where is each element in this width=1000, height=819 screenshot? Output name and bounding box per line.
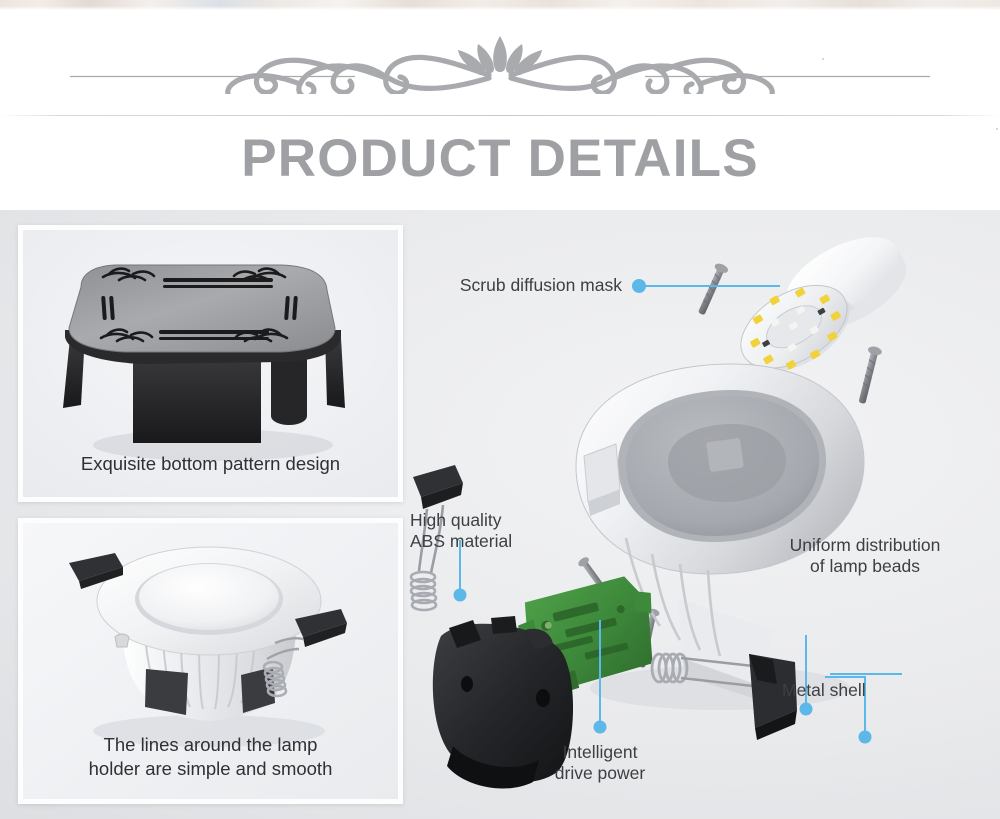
speck-artifact [822, 58, 824, 60]
product-details-page: PRODUCT DETAILS [0, 0, 1000, 819]
flourish-divider-icon [0, 28, 1000, 94]
callout-label-line-1: High quality [410, 510, 512, 531]
callout-uniform-distribution-of-lamp-beads: Uniform distribution of lamp beads [760, 535, 970, 577]
callout-label: Scrub diffusion mask [460, 275, 622, 295]
panel-caption: Exquisite bottom pattern design [23, 452, 398, 475]
horizontal-rule-icon [0, 115, 1000, 116]
panel-bottom-pattern: Exquisite bottom pattern design [18, 225, 403, 502]
page-header: PRODUCT DETAILS [0, 10, 1000, 210]
panel-caption-line-1: The lines around the lamp [23, 733, 398, 757]
callout-intelligent-drive-power: Intelligent drive power [505, 742, 695, 784]
callout-metal-shell: Metal shell [782, 680, 866, 701]
panel-caption-line-2: holder are simple and smooth [23, 757, 398, 781]
callout-label-line-1: Uniform distribution [760, 535, 970, 556]
callout-label-line-2: drive power [505, 763, 695, 784]
callout-scrub-diffusion-mask: Scrub diffusion mask [210, 275, 622, 296]
panel-caption: The lines around the lamp holder are sim… [23, 733, 398, 781]
content-area: Exquisite bottom pattern design [0, 210, 1000, 819]
callout-label-line-1: Intelligent [505, 742, 695, 763]
speck-artifact [996, 128, 998, 130]
page-title: PRODUCT DETAILS [0, 128, 1000, 190]
callout-label-line-2: of lamp beads [760, 556, 970, 577]
callout-label-line-2: ABS material [410, 531, 512, 552]
panel-lamp-holder: The lines around the lamp holder are sim… [18, 518, 403, 804]
callout-label: Metal shell [782, 680, 866, 700]
top-photo-strip [0, 0, 1000, 10]
callout-high-quality-abs-material: High quality ABS material [410, 510, 512, 552]
